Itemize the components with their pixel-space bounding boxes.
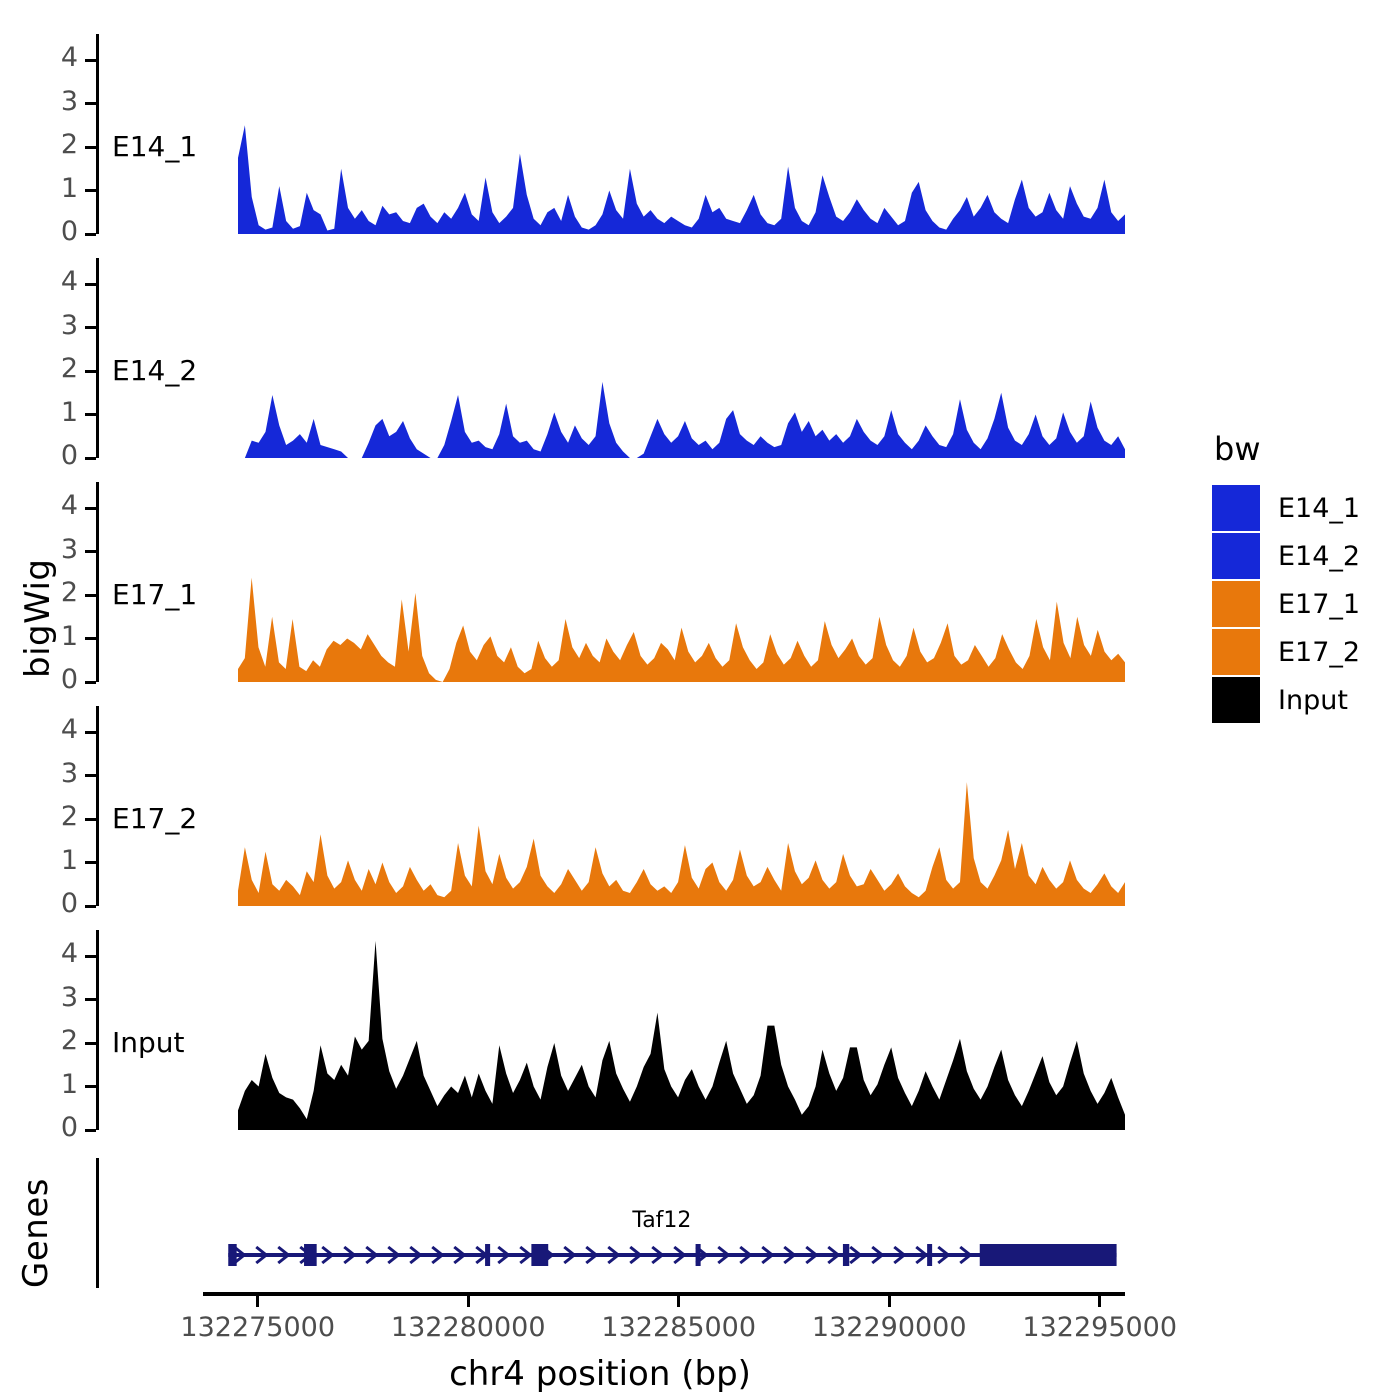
legend-swatch (1212, 677, 1260, 723)
bigwig-panel-e17_1: 01234E17_1 (0, 482, 1180, 682)
coverage-track-e14_2[interactable] (0, 258, 1180, 460)
legend-label: E14_1 (1278, 493, 1360, 524)
x-tick (888, 1296, 891, 1307)
coverage-track-input[interactable] (0, 930, 1180, 1132)
legend-title: bw (1214, 430, 1392, 468)
legend-item-e17_1[interactable]: E17_1 (1212, 580, 1392, 628)
coverage-track-e17_1[interactable] (0, 482, 1180, 684)
gene-exon[interactable] (228, 1244, 236, 1266)
legend-swatch (1212, 485, 1260, 531)
bigwig-panel-e14_2: 01234E14_2 (0, 258, 1180, 458)
x-tick-label: 132295000 (970, 1312, 1230, 1343)
legend-swatch (1212, 581, 1260, 627)
legend-label: E17_1 (1278, 589, 1360, 620)
x-tick (256, 1296, 259, 1307)
coverage-area (238, 782, 1125, 906)
x-axis: 1322750001322800001322850001322900001322… (0, 1292, 1200, 1397)
legend-item-e14_2[interactable]: E14_2 (1212, 532, 1392, 580)
gene-exon[interactable] (980, 1244, 1117, 1266)
bigwig-panel-e14_1: 01234E14_1 (0, 34, 1180, 234)
coverage-area (238, 125, 1125, 234)
bigwig-panel-e17_2: 01234E17_2 (0, 706, 1180, 906)
legend-label: E14_2 (1278, 541, 1360, 572)
legend-label: Input (1278, 685, 1348, 716)
x-axis-line (203, 1292, 1125, 1296)
coverage-track-e17_2[interactable] (0, 706, 1180, 908)
legend-label: E17_2 (1278, 637, 1360, 668)
coverage-area (238, 941, 1125, 1130)
genes-track-panel: Taf12 (0, 1158, 1180, 1288)
gene-model[interactable] (0, 1158, 1180, 1288)
legend-item-e14_1[interactable]: E14_1 (1212, 484, 1392, 532)
x-tick (677, 1296, 680, 1307)
gene-exon[interactable] (485, 1244, 490, 1266)
coverage-track-e14_1[interactable] (0, 34, 1180, 236)
gene-exon[interactable] (696, 1244, 701, 1266)
gene-exon[interactable] (927, 1244, 932, 1266)
gene-exon[interactable] (843, 1244, 849, 1266)
legend-item-input[interactable]: Input (1212, 676, 1392, 724)
legend-swatch (1212, 629, 1260, 675)
legend-item-e17_2[interactable]: E17_2 (1212, 628, 1392, 676)
coverage-area (238, 578, 1125, 682)
genome-browser-figure: bigWig Genes 01234E14_101234E14_201234E1… (0, 0, 1400, 1400)
gene-exon[interactable] (531, 1244, 548, 1266)
gene-exon[interactable] (304, 1244, 317, 1266)
coverage-area (238, 382, 1125, 458)
x-tick (1098, 1296, 1101, 1307)
bigwig-panel-input: 01234Input (0, 930, 1180, 1130)
legend-items: E14_1E14_2E17_1E17_2Input (1212, 484, 1392, 724)
x-axis-title: chr4 position (bp) (0, 1354, 1200, 1394)
x-tick (467, 1296, 470, 1307)
legend-swatch (1212, 533, 1260, 579)
legend: bw E14_1E14_2E17_1E17_2Input (1212, 430, 1392, 724)
